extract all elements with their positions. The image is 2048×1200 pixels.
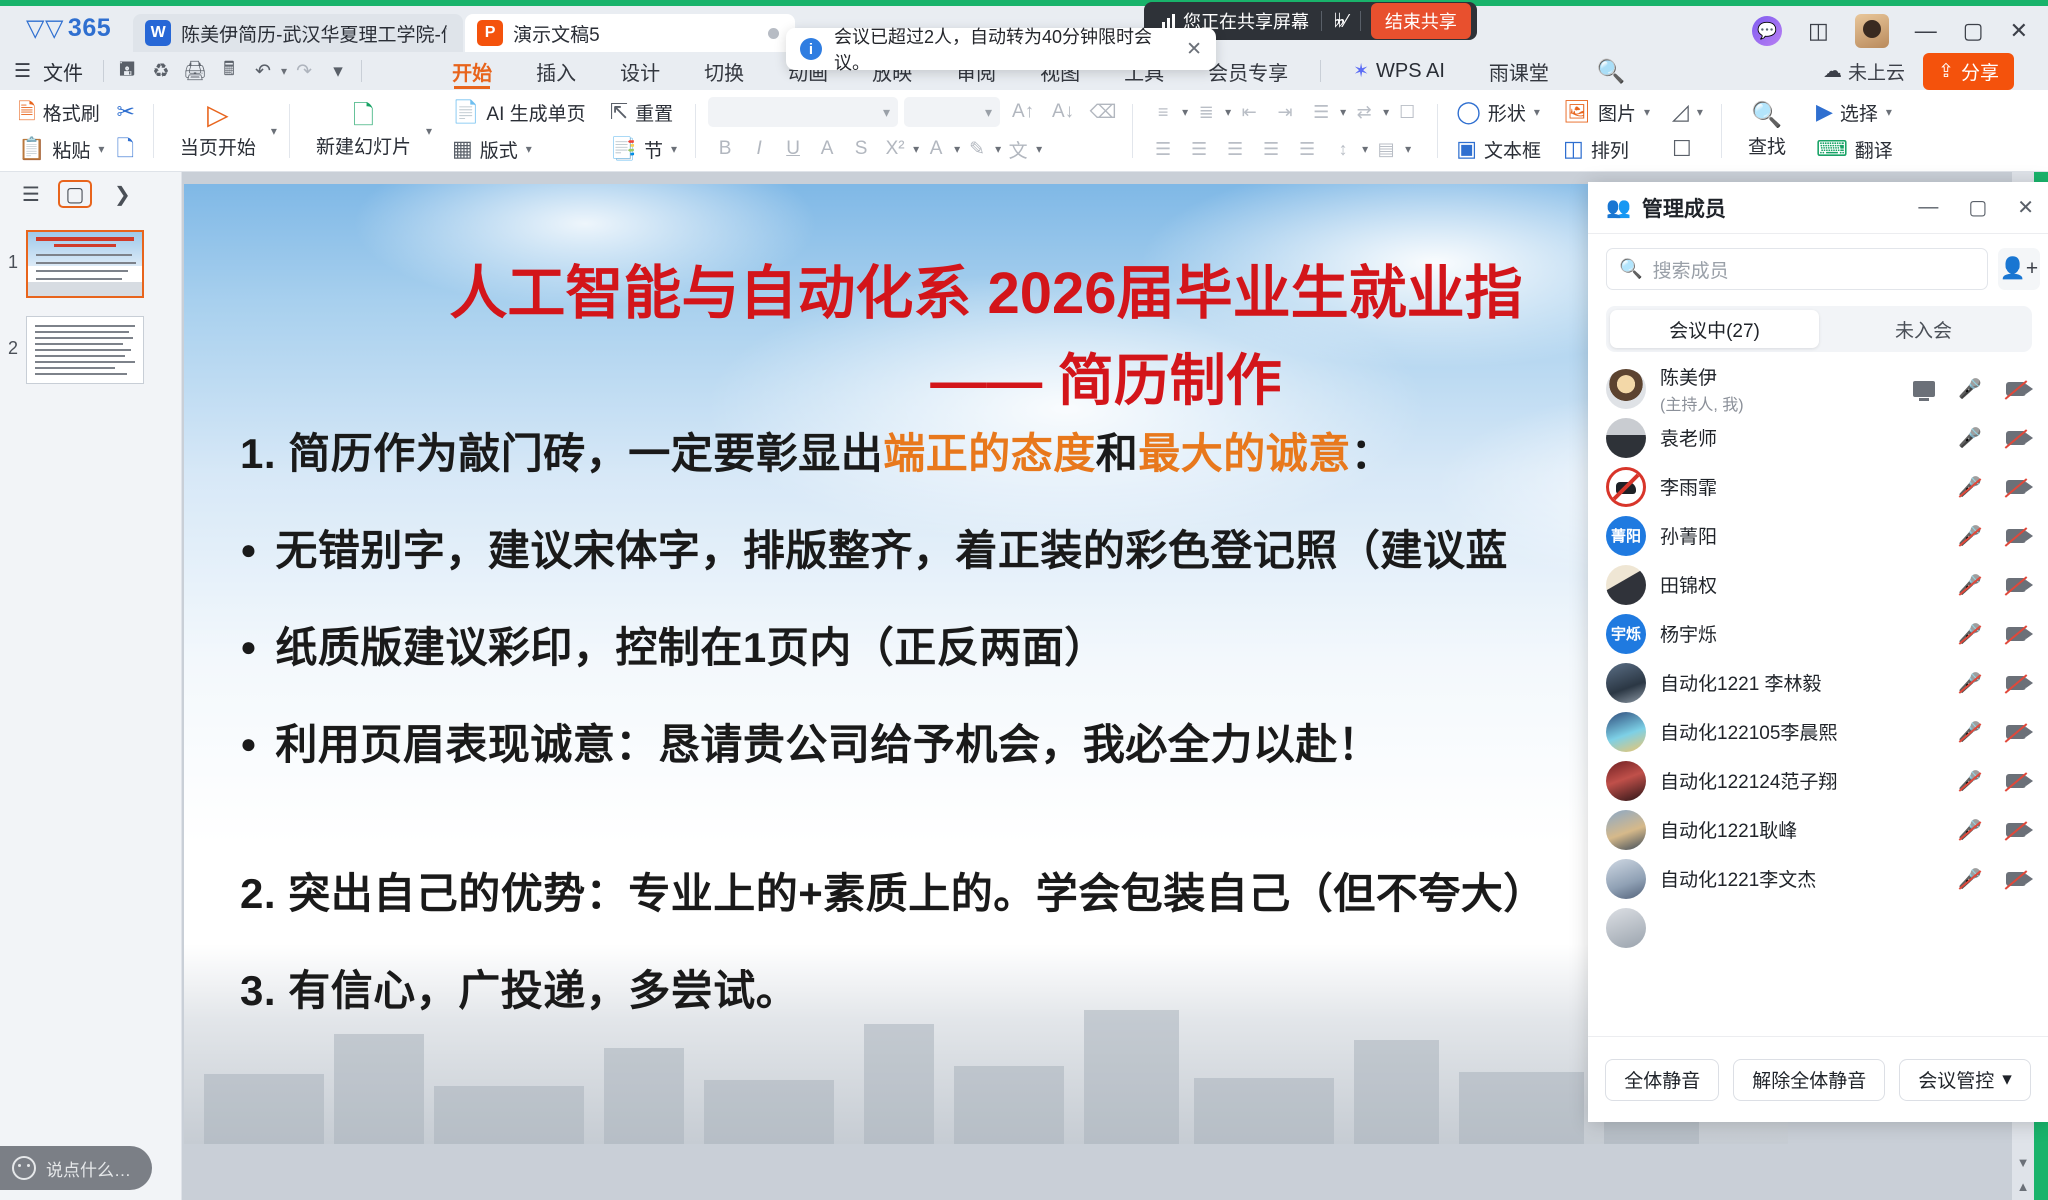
char-effect-button[interactable]: 文	[1001, 134, 1035, 164]
members-panel-title: 👥 管理成员	[1606, 193, 1726, 223]
section-label: 节	[644, 136, 663, 163]
font-color-button[interactable]: A	[919, 134, 953, 164]
cut-button[interactable]: ✂	[110, 97, 140, 127]
share-button-label: 分享	[1961, 58, 1999, 85]
text-effect-button[interactable]: A	[810, 134, 844, 164]
reset-icon: ⇱	[610, 101, 628, 123]
textbox-label: 文本框	[1484, 136, 1541, 163]
member-row[interactable]: 自动化122105李晨熙 🎤	[1588, 707, 2048, 756]
find-button[interactable]: 🔍 查找	[1734, 103, 1800, 159]
highlight-text: 端正的态度	[883, 430, 1096, 477]
frame-button[interactable]: ☐	[1666, 134, 1709, 164]
comment-input-bar[interactable]: 说点什么…	[0, 1146, 152, 1190]
tab-home[interactable]: 开始	[430, 52, 514, 90]
add-user-icon[interactable]: 👤+	[1998, 248, 2040, 290]
members-list[interactable]: 陈美伊 (主持人, 我) 🎤 袁老师 🎤	[1588, 354, 2048, 1036]
powerpoint-file-icon: P	[477, 20, 503, 46]
avatar	[1606, 712, 1646, 752]
screen-share-icon[interactable]	[1912, 378, 1936, 400]
format-painter-icon: 🗎	[18, 101, 36, 123]
members-search-row: 🔍 搜索成员 👤+	[1588, 234, 2048, 300]
member-row[interactable]: 李雨霏 🎤	[1588, 462, 2048, 511]
select-icon: ▶	[1816, 101, 1833, 123]
avatar	[1606, 761, 1646, 801]
slide-thumbnail[interactable]	[26, 316, 144, 384]
file-menu-button[interactable]: 文件	[39, 57, 97, 86]
avatar: 菁阳	[1606, 516, 1646, 556]
new-slide-icon: 🗋	[353, 102, 374, 128]
member-row[interactable]: 菁阳 孙菁阳 🎤	[1588, 511, 2048, 560]
chevron-down-icon[interactable]: ▾	[1886, 105, 1892, 119]
select-label: 选择	[1840, 99, 1878, 126]
slide-view-icon[interactable]: ▢	[58, 180, 92, 208]
cloud-save-icon[interactable]: ♻	[144, 56, 178, 86]
underline-button[interactable]: U	[776, 134, 810, 164]
chevron-down-icon[interactable]: ▾	[1697, 105, 1703, 119]
cloud-upload-icon: ☁	[1823, 60, 1842, 83]
camera-off-icon[interactable]	[2004, 770, 2028, 792]
word-file-icon: W	[145, 20, 171, 46]
strikethrough-button[interactable]: S	[844, 134, 878, 164]
font-row-bottom: B I U A S X² ▾ A ▾ ✎ ▾ 文 ▾	[708, 134, 1120, 164]
chevron-down-icon[interactable]: ▾	[1644, 105, 1650, 119]
chevron-right-icon[interactable]: ❯	[114, 182, 131, 207]
divider	[153, 104, 154, 158]
avatar	[1606, 810, 1646, 850]
hamburger-icon[interactable]: ☰	[6, 60, 39, 83]
meeting-control-label: 会议管控	[1918, 1066, 1994, 1093]
tools-stack: ▶ 选择 ▾ ⌨ 翻译	[1810, 97, 1899, 164]
clipboard-group: 🗎 格式刷 📋 粘贴 ▾ ✂ 🗋	[12, 90, 141, 171]
print-icon[interactable]: 🖨	[178, 56, 212, 86]
layout-button[interactable]: ▦ 版式 ▾	[446, 134, 592, 164]
doc-tab-resume[interactable]: W 陈美伊简历-武汉华夏理工学院-信息	[133, 14, 463, 52]
thumb-line	[35, 337, 133, 339]
member-status-icons: 🎤	[1936, 721, 2028, 743]
microphone-off-icon[interactable]: 🎤	[1958, 574, 1982, 596]
insert-stack-3: ◿ ▾ ☐	[1666, 97, 1709, 164]
chevron-down-icon[interactable]: ▾	[426, 124, 432, 138]
member-status-icons: 🎤	[1936, 525, 2028, 547]
slide-panel-toolbar: ☰ ▢ ❯	[0, 172, 181, 216]
redo-icon: ↷	[287, 56, 321, 86]
print-preview-icon[interactable]: 🖩	[212, 56, 246, 86]
play-group: ▷ 当页开始 ▾	[166, 90, 277, 171]
member-row[interactable]: 自动化122124范子翔 🎤	[1588, 756, 2048, 805]
member-names: 李雨霏	[1660, 473, 1922, 500]
thumbnail-item-2[interactable]: 2	[0, 312, 181, 398]
cloud-status[interactable]: ☁ 未上云	[1823, 58, 1905, 85]
members-panel-title-label: 管理成员	[1642, 193, 1726, 223]
smiley-icon[interactable]	[12, 1156, 36, 1180]
building-shape	[604, 1048, 684, 1144]
slide-line-4[interactable]: 利用页眉表现诚意：恳请贵公司给予机会，我必全力以赴！	[240, 711, 1788, 772]
microphone-off-icon[interactable]: 🎤	[1958, 721, 1982, 743]
member-name: 孙菁阳	[1660, 527, 1717, 548]
close-button[interactable]: ✕	[2010, 20, 2028, 42]
slides-commands-2: ⇱ 重置 📑 节 ▾	[604, 97, 683, 164]
fill-button[interactable]: ◿ ▾	[1666, 97, 1709, 127]
chat-bubble-icon[interactable]: 💬	[1752, 16, 1782, 46]
member-row[interactable]: 陈美伊 (主持人, 我) 🎤	[1588, 364, 2048, 413]
panel-maximize-button[interactable]: ▢	[1968, 195, 1987, 220]
clipboard-left: 🗎 格式刷 📋 粘贴 ▾	[12, 97, 110, 164]
distribute-icon[interactable]: ☰	[1289, 134, 1325, 164]
fill-icon: ◿	[1672, 101, 1689, 123]
tab-transitions[interactable]: 切换	[682, 52, 766, 90]
arrange-icon: ◫	[1563, 138, 1584, 160]
share-button[interactable]: ⇪ 分享	[1923, 53, 2014, 90]
thumb-line	[35, 349, 131, 351]
play-circle-icon: ▷	[207, 101, 229, 129]
layout-label: 版式	[480, 136, 518, 163]
tools-group: 🔍 查找 ▶ 选择 ▾ ⌨ 翻译	[1734, 90, 1899, 171]
pictures-label: 图片	[1598, 99, 1636, 126]
shapes-label: 形状	[1488, 99, 1526, 126]
avatar	[1606, 565, 1646, 605]
paragraph-row-top: ≡▾ ≣▾ ⇤ ⇥ ☰▾ ⇄▾ ☐	[1145, 97, 1425, 127]
chevron-down-icon[interactable]: ▾	[98, 142, 104, 156]
microphone-off-icon[interactable]: 🎤	[1958, 672, 1982, 694]
slide-thumbnail-panel: ☰ ▢ ❯ 1 2	[0, 172, 182, 1200]
avatar	[1606, 467, 1646, 507]
start-from-current-label: 当页开始	[180, 133, 256, 160]
align-right-icon[interactable]: ☰	[1217, 134, 1253, 164]
chevron-down-icon[interactable]: ▾	[1036, 142, 1042, 156]
pause-share-icon[interactable]: 𝄫⁄	[1322, 11, 1360, 32]
ai-generate-page-button[interactable]: 📄 AI 生成单页	[446, 97, 592, 127]
member-status-icons: 🎤	[1936, 574, 2028, 596]
outdent-icon[interactable]: ⇤	[1231, 97, 1267, 127]
paragraph-group: ≡▾ ≣▾ ⇤ ⇥ ☰▾ ⇄▾ ☐ ☰ ☰ ☰ ☰ ☰ ↕▾ ▤▾	[1145, 90, 1425, 171]
slide-line-6[interactable]: 3. 有信心，广投递，多尝试。	[240, 957, 1788, 1018]
paste-button[interactable]: 📋 粘贴 ▾	[12, 134, 110, 164]
camera-off-icon[interactable]	[2004, 378, 2028, 400]
tab-wps-ai-label: WPS AI	[1376, 60, 1445, 83]
section-button[interactable]: 📑 节 ▾	[604, 134, 683, 164]
font-row-top: ▾ ▾ A↑ A↓ ⌫	[708, 97, 1120, 127]
ai-page-icon: 📄	[452, 101, 479, 123]
member-name: 自动化1221 李林毅	[1660, 674, 1822, 695]
avatar: 宇烁	[1606, 614, 1646, 654]
member-status-icons: 🎤	[1936, 427, 2028, 449]
thumb-line	[35, 373, 127, 375]
text-direction-icon[interactable]: ☰	[1303, 97, 1339, 127]
slide-number: 2	[6, 316, 20, 359]
camera-off-icon[interactable]	[2004, 476, 2028, 498]
tab-insert[interactable]: 插入	[514, 52, 598, 90]
scissors-icon: ✂	[116, 101, 134, 123]
member-row[interactable]: 田锦权 🎤	[1588, 560, 2048, 609]
new-slide-label: 新建幻灯片	[316, 132, 411, 159]
building-shape	[704, 1080, 834, 1144]
thumb-line	[35, 355, 125, 357]
member-status-icons: 🎤	[1936, 623, 2028, 645]
thumb-line	[35, 343, 123, 345]
superscript-button[interactable]: X²	[878, 134, 912, 164]
camera-off-icon[interactable]	[2004, 672, 2028, 694]
member-names: 自动化122124范子翔	[1660, 767, 1922, 794]
tab-in-meeting[interactable]: 会议中(27)	[1610, 310, 1819, 348]
search-member-input[interactable]: 🔍 搜索成员	[1606, 248, 1988, 290]
member-name: 杨宇烁	[1660, 625, 1717, 646]
microphone-icon[interactable]: 🎤	[1958, 427, 1982, 449]
camera-off-icon[interactable]	[2004, 525, 2028, 547]
building-shape	[204, 1074, 324, 1144]
thumb-footer	[28, 282, 142, 296]
meeting-notification-toast: i 会议已超过2人，自动转为40分钟限时会议。 ✕	[786, 28, 1216, 70]
format-painter-label: 格式刷	[43, 99, 100, 126]
camera-off-icon[interactable]	[2004, 721, 2028, 743]
thumb-line	[35, 331, 129, 333]
member-name: 陈美伊	[1660, 363, 1898, 390]
font-group: ▾ ▾ A↑ A↓ ⌫ B I U A S X² ▾ A ▾ ✎	[708, 90, 1120, 171]
avatar	[1606, 908, 1646, 948]
thumb-line	[36, 262, 136, 264]
member-row[interactable]: 宇烁 杨宇烁 🎤	[1588, 609, 2048, 658]
font-size-select[interactable]: ▾	[904, 97, 1000, 127]
wps-logo: ▽▽365	[26, 14, 111, 43]
align-left-icon[interactable]: ☰	[1145, 134, 1181, 164]
doc-tab-label: 演示文稿5	[513, 20, 758, 47]
box-icon[interactable]: ◫	[1808, 20, 1829, 42]
end-share-button[interactable]: 结束共享	[1371, 3, 1471, 39]
bullet-list-icon[interactable]: ≡	[1145, 97, 1181, 127]
chevron-down-icon: ▾	[2002, 1068, 2012, 1091]
building-shape	[1194, 1078, 1334, 1144]
member-name: 田锦权	[1660, 576, 1717, 597]
chevron-down-icon[interactable]: ▾	[526, 142, 532, 156]
manage-members-panel: 👥 管理成员 — ▢ ✕ 🔍 搜索成员 👤+ 会议中(27) 未入会	[1588, 182, 2048, 1122]
save-icon[interactable]: 🖪	[110, 56, 144, 86]
arrange-button[interactable]: ◫ 排列	[1557, 134, 1656, 164]
copy-button[interactable]: 🗋	[110, 134, 140, 164]
thumb-line	[35, 367, 115, 369]
member-status-icons: 🎤	[1912, 378, 2028, 400]
search-placeholder: 搜索成员	[1653, 256, 1729, 283]
minimize-button[interactable]: —	[1915, 20, 1937, 42]
insert-stack-2: 🖼 图片 ▾ ◫ 排列	[1557, 97, 1656, 164]
slide-line-2[interactable]: 无错别字，建议宋体字，排版整齐，着正装的彩色登记照（建议蓝	[240, 517, 1788, 578]
tab-yuketang[interactable]: 雨课堂	[1467, 52, 1571, 90]
new-slide-button[interactable]: 🗋 新建幻灯片	[302, 102, 425, 159]
tab-wps-ai[interactable]: ✶ WPS AI	[1331, 52, 1467, 90]
convert-icon[interactable]: ☐	[1389, 97, 1425, 127]
thumb-subtitle-bar	[54, 244, 116, 247]
member-name: 自动化1221李文杰	[1660, 870, 1816, 891]
slide-body[interactable]: 1. 简历作为敲门砖，一定要彰显出端正的态度和最大的诚意： 无错别字，建议宋体字…	[240, 420, 1788, 1054]
building-shape	[1459, 1072, 1584, 1144]
member-name: 李雨霏	[1660, 478, 1717, 499]
doc-tab-presentation[interactable]: P 演示文稿5	[465, 14, 795, 52]
slide-subtitle[interactable]: —— 简历制作	[184, 336, 1788, 417]
divider	[1360, 11, 1361, 31]
arrange-label: 排列	[1591, 136, 1629, 163]
font-stack: ▾ ▾ A↑ A↓ ⌫ B I U A S X² ▾ A ▾ ✎	[708, 97, 1120, 164]
chevron-down-icon[interactable]: ▾	[1534, 105, 1540, 119]
microphone-off-icon[interactable]: 🎤	[1958, 868, 1982, 890]
italic-button[interactable]: I	[742, 134, 776, 164]
slides-group: 🗋 新建幻灯片 ▾ 📄 AI 生成单页 ▦ 版式 ▾ ⇱ 重置	[302, 90, 683, 171]
find-label: 查找	[1748, 132, 1786, 159]
info-icon: i	[800, 38, 822, 60]
shapes-button[interactable]: ◯ 形状 ▾	[1450, 97, 1547, 127]
more-icon[interactable]: ▾	[321, 56, 355, 86]
member-status-icons: 🎤	[1936, 672, 2028, 694]
mute-all-button[interactable]: 全体静音	[1605, 1059, 1719, 1101]
clear-format-icon[interactable]: ⌫	[1086, 97, 1120, 127]
select-button[interactable]: ▶ 选择 ▾	[1810, 97, 1899, 127]
columns-icon[interactable]: ▤	[1368, 134, 1404, 164]
camera-off-icon[interactable]	[2004, 427, 2028, 449]
building-shape	[434, 1086, 584, 1144]
ribbon-right-actions: ☁ 未上云 ⇪ 分享	[1823, 53, 2014, 90]
maximize-button[interactable]: ▢	[1963, 20, 1984, 42]
panel-close-button[interactable]: ✕	[2017, 195, 2034, 220]
slide-line-3[interactable]: 纸质版建议彩印，控制在1页内（正反两面）	[240, 614, 1788, 675]
line-spacing-icon[interactable]: ↕	[1325, 134, 1361, 164]
search-icon: 🔍	[1751, 103, 1782, 128]
textbox-button[interactable]: ▣ 文本框	[1450, 134, 1547, 164]
member-row[interactable]	[1588, 903, 2048, 952]
chevron-down-icon[interactable]: ▾	[671, 142, 677, 156]
grow-font-button[interactable]: A↑	[1006, 97, 1040, 127]
reset-button[interactable]: ⇱ 重置	[604, 97, 683, 127]
people-icon: 👥	[1606, 195, 1631, 220]
slide-thumbnail[interactable]	[26, 230, 144, 298]
camera-off-icon[interactable]	[2004, 574, 2028, 596]
wps-presentation-window: ▽▽365 W 陈美伊简历-武汉华夏理工学院-信息 P 演示文稿5 💬 ◫ — …	[0, 0, 2048, 1200]
slide-spacer	[240, 808, 1788, 860]
camera-off-icon[interactable]	[2004, 819, 2028, 841]
slides-commands: 📄 AI 生成单页 ▦ 版式 ▾	[446, 97, 592, 164]
layout-icon: ▦	[452, 138, 473, 160]
divider	[1437, 104, 1438, 158]
member-names: 自动化1221 李林毅	[1660, 669, 1922, 696]
doc-tab-label: 陈美伊简历-武汉华夏理工学院-信息	[181, 20, 447, 47]
align-justify-icon[interactable]: ☰	[1253, 134, 1289, 164]
member-row[interactable]: 袁老师 🎤	[1588, 413, 2048, 462]
camera-off-icon[interactable]	[2004, 868, 2028, 890]
highlight-text: 最大的诚意	[1138, 430, 1351, 477]
tab-design[interactable]: 设计	[598, 52, 682, 90]
quick-access-toolbar: ☰ 文件 🖪 ♻ 🖨 🖩 ↶▾ ↷ ▾	[0, 56, 368, 86]
microphone-off-icon[interactable]: 🎤	[1958, 819, 1982, 841]
member-names: 田锦权	[1660, 571, 1922, 598]
format-painter-button[interactable]: 🗎 格式刷	[12, 97, 110, 127]
member-name: 袁老师	[1660, 429, 1717, 450]
outline-view-icon[interactable]: ☰	[14, 180, 48, 208]
share-icon: ⇪	[1938, 60, 1954, 83]
bold-button[interactable]: B	[708, 134, 742, 164]
frame-icon: ☐	[1672, 138, 1692, 160]
tab-not-joined[interactable]: 未入会	[1819, 310, 2028, 348]
clipboard-right: ✂ 🗋	[110, 97, 140, 164]
indent-icon[interactable]: ⇥	[1267, 97, 1303, 127]
thumb-title-bar	[36, 237, 134, 241]
slide-editor[interactable]: 人工智能与自动化系 2026届毕业生就业指 —— 简历制作 1. 简历作为敲门砖…	[184, 184, 1788, 1144]
start-from-current-button[interactable]: ▷ 当页开始	[166, 101, 270, 160]
pictures-button[interactable]: 🖼 图片 ▾	[1557, 97, 1656, 127]
slide-title[interactable]: 人工智能与自动化系 2026届毕业生就业指	[184, 246, 1788, 330]
microphone-off-icon[interactable]: 🎤	[1958, 770, 1982, 792]
scroll-up-icon[interactable]: ▲	[2012, 1179, 2034, 1194]
member-row[interactable]: 自动化1221 李林毅 🎤	[1588, 658, 2048, 707]
toast-close-icon[interactable]: ✕	[1186, 38, 1202, 61]
avatar	[1606, 859, 1646, 899]
shrink-font-button[interactable]: A↓	[1046, 97, 1080, 127]
panel-minimize-button[interactable]: —	[1918, 196, 1938, 219]
search-icon[interactable]: 🔍	[1597, 58, 1626, 85]
window-controls: 💬 ◫ — ▢ ✕	[1752, 14, 2028, 48]
align-center-icon[interactable]: ☰	[1181, 134, 1217, 164]
member-name: 自动化122105李晨熙	[1660, 723, 1837, 744]
avatar	[1606, 663, 1646, 703]
divider	[1132, 104, 1133, 158]
slide-line-5[interactable]: 2. 突出自己的优势：专业上的+素质上的。学会包装自己（但不夸大）	[240, 860, 1788, 921]
ai-sparkle-icon: ✶	[1353, 60, 1369, 83]
numbered-list-icon[interactable]: ≣	[1188, 97, 1224, 127]
member-names: 孙菁阳	[1660, 522, 1922, 549]
wps-logo-text: 365	[68, 14, 111, 43]
microphone-off-icon[interactable]: 🎤	[1958, 476, 1982, 498]
member-name: 自动化1221耿峰	[1660, 821, 1797, 842]
microphone-off-icon[interactable]: 🎤	[1958, 525, 1982, 547]
scroll-down-icon[interactable]: ▼	[2012, 1155, 2034, 1170]
avatar	[1606, 418, 1646, 458]
paste-label: 粘贴	[52, 136, 90, 163]
chevron-down-icon[interactable]: ▾	[1405, 142, 1411, 156]
divider	[695, 104, 696, 158]
ribbon-content: 🗎 格式刷 📋 粘贴 ▾ ✂ 🗋 ▷ 当页开始 ▾	[0, 90, 2048, 172]
shapes-icon: ◯	[1456, 101, 1481, 123]
member-row[interactable]: 自动化1221李文杰 🎤	[1588, 854, 2048, 903]
textbox-icon: ▣	[1456, 138, 1477, 160]
divider	[1320, 60, 1321, 82]
smart-align-icon[interactable]: ⇄	[1346, 97, 1382, 127]
divider	[361, 60, 362, 82]
insert-stack-1: ◯ 形状 ▾ ▣ 文本框	[1450, 97, 1547, 164]
font-family-select[interactable]: ▾	[708, 97, 898, 127]
meeting-control-button[interactable]: 会议管控 ▾	[1899, 1059, 2031, 1101]
camera-off-icon[interactable]	[2004, 623, 2028, 645]
divider	[103, 60, 104, 82]
unmute-all-button[interactable]: 解除全体静音	[1733, 1059, 1885, 1101]
member-names: 自动化1221李文杰	[1660, 865, 1922, 892]
member-role: (主持人, 我)	[1660, 391, 1898, 415]
chevron-down-icon[interactable]: ▾	[271, 124, 277, 138]
user-avatar[interactable]	[1855, 14, 1889, 48]
highlight-icon[interactable]: ✎	[960, 134, 994, 164]
member-row[interactable]: 自动化1221耿峰 🎤	[1588, 805, 2048, 854]
section-icon: 📑	[610, 138, 637, 160]
slide-line-1[interactable]: 1. 简历作为敲门砖，一定要彰显出端正的态度和最大的诚意：	[240, 420, 1788, 481]
undo-icon[interactable]: ↶	[246, 56, 280, 86]
translate-button[interactable]: ⌨ 翻译	[1810, 134, 1899, 164]
member-names: 陈美伊 (主持人, 我)	[1660, 363, 1898, 415]
member-names: 自动化1221耿峰	[1660, 816, 1922, 843]
copy-icon: 🗋	[116, 138, 134, 160]
microphone-off-icon[interactable]: 🎤	[1958, 623, 1982, 645]
thumbnail-item-1[interactable]: 1	[0, 226, 181, 312]
paste-icon: 📋	[18, 138, 45, 160]
member-status-icons: 🎤	[1936, 770, 2028, 792]
unsaved-dot-icon	[768, 28, 779, 39]
ai-generate-page-label: AI 生成单页	[486, 99, 585, 126]
building-shape	[954, 1066, 1064, 1144]
microphone-icon[interactable]: 🎤	[1958, 378, 1982, 400]
picture-icon: 🖼	[1563, 101, 1591, 123]
